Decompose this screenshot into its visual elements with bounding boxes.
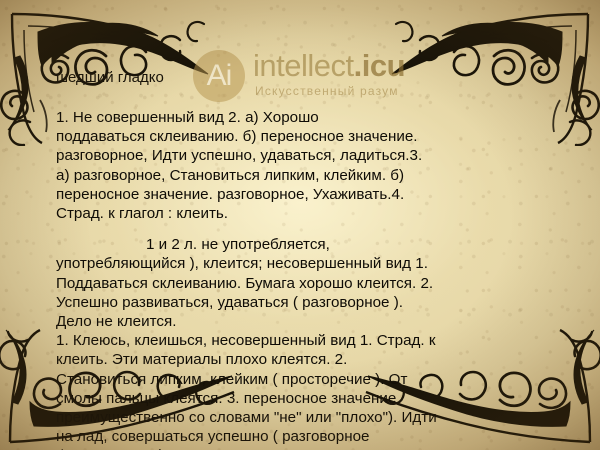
text-line: фамильярное ). Дело никак не пошло клеит… bbox=[56, 446, 526, 450]
text-line: поддаваться склеиванию. б) переносное зн… bbox=[56, 127, 526, 146]
text-block-2: 1 и 2 л. не употребляется, употребляющий… bbox=[56, 235, 526, 331]
watermark-name-suffix: .icu bbox=[354, 48, 405, 83]
text-line: клеить. Эти материалы плохо клеятся. 2. bbox=[56, 350, 526, 369]
watermark-name: intellect.icu bbox=[253, 48, 405, 84]
text-line: Успешно развиваться, удаваться ( разгово… bbox=[56, 293, 526, 312]
text-line: разговорное, Идти успешно, удаваться, ла… bbox=[56, 146, 526, 165]
watermark: Ai intellect.icu Искусственный разум bbox=[193, 44, 523, 106]
text-line: смолы пальцы клеятся. 3. переносное знач… bbox=[56, 389, 526, 408]
text-line: 1. Клеюсь, клеишься, несовершенный вид 1… bbox=[56, 331, 526, 350]
slide-canvas: Ai intellect.icu Искусственный разум шед… bbox=[0, 0, 600, 450]
text-line: преимущественно со словами "не" или "пло… bbox=[56, 408, 526, 427]
text-line: Поддаваться склеиванию. Бумага хорошо кл… bbox=[56, 274, 526, 293]
text-line: 1 и 2 л. не употребляется, bbox=[146, 236, 330, 253]
text-block-1: 1. Не совершенный вид 2. а) Хорошо подда… bbox=[56, 108, 526, 223]
text-line: Становиться липким, клейким ( просторечи… bbox=[56, 370, 526, 389]
watermark-tagline: Искусственный разум bbox=[255, 84, 399, 98]
text-line: Страд. к глагол : клеить. bbox=[56, 204, 526, 223]
text-line: Дело не клеится. bbox=[56, 312, 526, 331]
page-title: шедший гладко bbox=[56, 69, 164, 86]
watermark-name-prefix: intellect bbox=[253, 48, 354, 83]
text-line: употребляющийся ), клеится; несовершенны… bbox=[56, 254, 526, 273]
text-line: на лад, совершаться успешно ( разговорно… bbox=[56, 427, 526, 446]
text-line: переносное значение. разговорное, Ухажив… bbox=[56, 185, 526, 204]
slide-body-text: 1. Не совершенный вид 2. а) Хорошо подда… bbox=[56, 108, 526, 450]
text-line-indented: 1 и 2 л. не употребляется, bbox=[56, 235, 526, 254]
watermark-logo-icon: Ai bbox=[193, 50, 245, 102]
text-line: а) разговорное, Становиться липким, клей… bbox=[56, 166, 526, 185]
watermark-logo-glyph: Ai bbox=[207, 61, 232, 91]
text-line: 1. Не совершенный вид 2. а) Хорошо bbox=[56, 108, 526, 127]
text-block-3: 1. Клеюсь, клеишься, несовершенный вид 1… bbox=[56, 331, 526, 450]
